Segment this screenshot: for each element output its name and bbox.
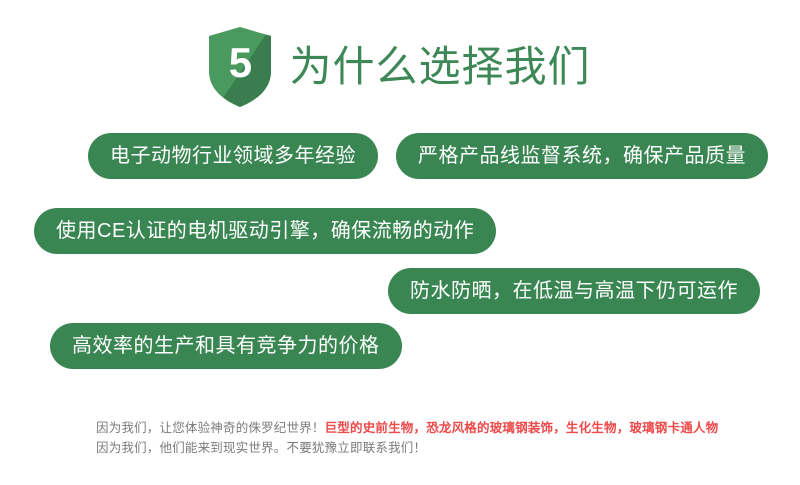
footer-line-1-prefix: 因为我们，让您体验神奇的侏罗纪世界！ — [96, 421, 325, 435]
feature-pill-quality: 严格产品线监督系统，确保产品质量 — [396, 133, 768, 179]
footer-line-1: 因为我们，让您体验神奇的侏罗纪世界！巨型的史前生物，恐龙风格的玻璃钢装饰，生化生… — [96, 418, 718, 438]
feature-list: 电子动物行业领域多年经验 严格产品线监督系统，确保产品质量 使用CE认证的电机驱… — [0, 118, 800, 388]
footer-line-2: 因为我们，他们能来到现实世界。不要犹豫立即联系我们！ — [96, 438, 718, 458]
badge-number: 5 — [209, 27, 271, 107]
shield-badge: 5 — [209, 27, 271, 107]
feature-pill-ce-motor: 使用CE认证的电机驱动引擎，确保流畅的动作 — [34, 208, 496, 254]
footer-line-1-highlight: 巨型的史前生物，恐龙风格的玻璃钢装饰，生化生物，玻璃钢卡通人物 — [325, 421, 719, 435]
page-header: 5 为什么选择我们 — [0, 0, 800, 118]
page-title: 为什么选择我们 — [289, 46, 590, 88]
feature-pill-weatherproof: 防水防晒，在低温与高温下仍可运作 — [388, 268, 760, 314]
feature-pill-efficiency: 高效率的生产和具有竞争力的价格 — [50, 323, 402, 369]
footer-text: 因为我们，让您体验神奇的侏罗纪世界！巨型的史前生物，恐龙风格的玻璃钢装饰，生化生… — [96, 418, 718, 458]
feature-pill-experience: 电子动物行业领域多年经验 — [88, 133, 378, 179]
